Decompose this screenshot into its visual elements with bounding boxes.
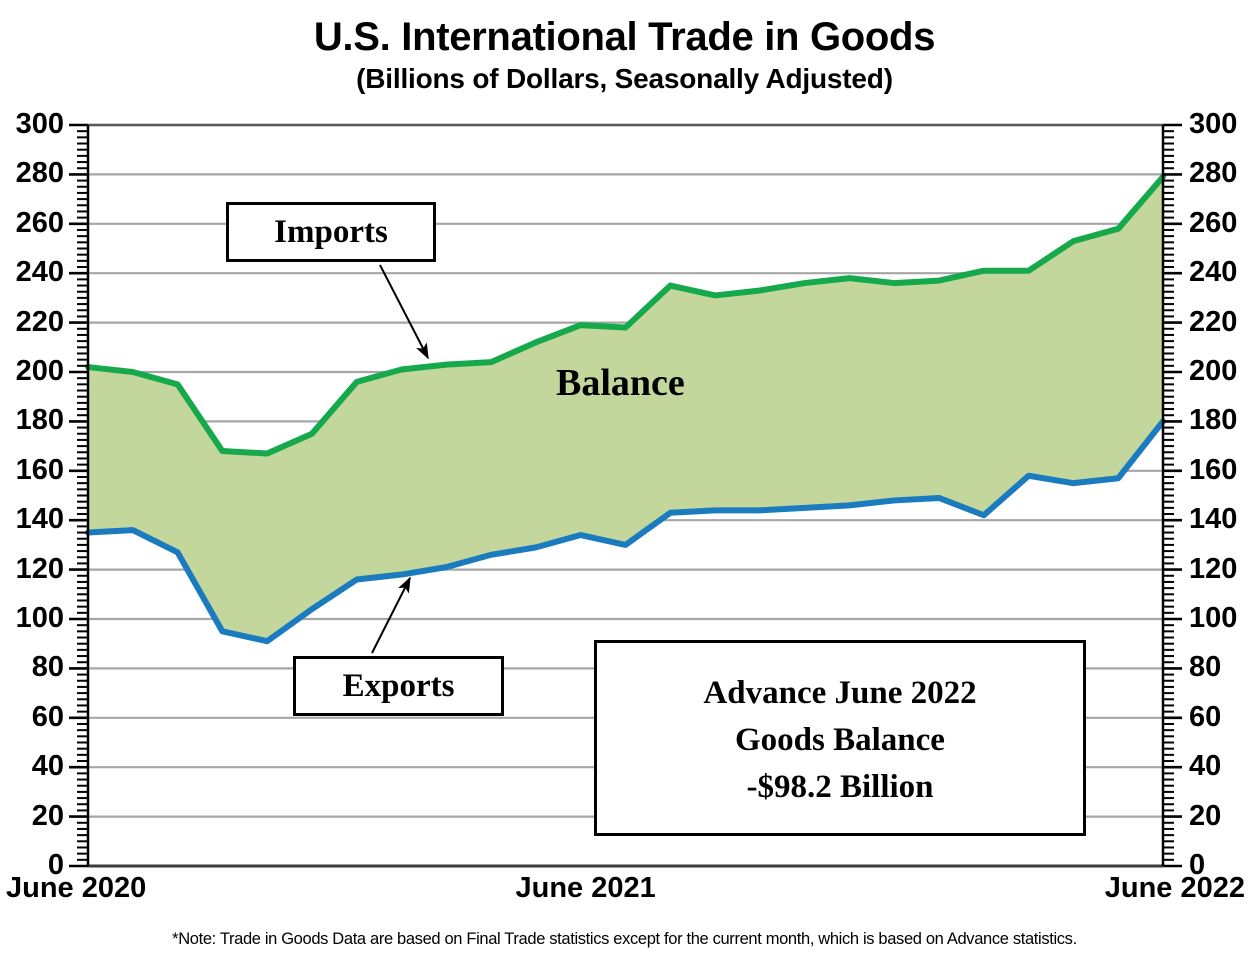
y-tick-left-260: 260 xyxy=(16,209,64,238)
y-tick-right-20: 20 xyxy=(1189,802,1221,831)
y-tick-right-220: 220 xyxy=(1189,308,1237,337)
x-tick-2: June 2022 xyxy=(1105,872,1245,905)
advance-line-1: Advance June 2022 xyxy=(703,670,976,717)
y-tick-left-20: 20 xyxy=(32,802,64,831)
y-tick-right-200: 200 xyxy=(1189,357,1237,386)
y-tick-right-100: 100 xyxy=(1189,604,1237,633)
exports-label: Exports xyxy=(343,668,455,705)
y-tick-right-180: 180 xyxy=(1189,406,1237,435)
y-tick-left-160: 160 xyxy=(16,456,64,485)
x-tick-1: June 2021 xyxy=(516,872,656,905)
y-tick-right-80: 80 xyxy=(1189,653,1221,682)
advance-balance-callout-box: Advance June 2022 Goods Balance -$98.2 B… xyxy=(594,640,1086,836)
y-tick-left-60: 60 xyxy=(32,703,64,732)
chart-page: U.S. International Trade in Goods (Billi… xyxy=(0,0,1249,972)
y-tick-right-160: 160 xyxy=(1189,456,1237,485)
y-tick-right-40: 40 xyxy=(1189,752,1221,781)
y-tick-right-280: 280 xyxy=(1189,159,1237,188)
y-tick-left-300: 300 xyxy=(16,110,64,139)
y-tick-right-300: 300 xyxy=(1189,110,1237,139)
x-tick-0: June 2020 xyxy=(6,872,146,905)
imports-label: Imports xyxy=(274,214,388,251)
y-tick-right-260: 260 xyxy=(1189,209,1237,238)
y-tick-right-240: 240 xyxy=(1189,258,1237,287)
y-tick-right-120: 120 xyxy=(1189,555,1237,584)
y-tick-left-180: 180 xyxy=(16,406,64,435)
exports-callout-box: Exports xyxy=(293,656,504,716)
y-tick-left-120: 120 xyxy=(16,555,64,584)
y-tick-left-200: 200 xyxy=(16,357,64,386)
imports-arrow xyxy=(380,265,428,358)
y-tick-left-140: 140 xyxy=(16,505,64,534)
y-tick-left-100: 100 xyxy=(16,604,64,633)
y-tick-left-80: 80 xyxy=(32,653,64,682)
advance-line-3: -$98.2 Billion xyxy=(746,764,933,811)
imports-callout-box: Imports xyxy=(226,202,436,262)
footnote-text: *Note: Trade in Goods Data are based on … xyxy=(0,930,1249,949)
y-tick-left-280: 280 xyxy=(16,159,64,188)
y-tick-right-60: 60 xyxy=(1189,703,1221,732)
advance-line-2: Goods Balance xyxy=(735,717,945,764)
y-tick-left-40: 40 xyxy=(32,752,64,781)
y-tick-left-220: 220 xyxy=(16,308,64,337)
balance-label: Balance xyxy=(556,361,685,405)
y-tick-right-140: 140 xyxy=(1189,505,1237,534)
y-tick-left-240: 240 xyxy=(16,258,64,287)
exports-arrow xyxy=(372,578,410,653)
